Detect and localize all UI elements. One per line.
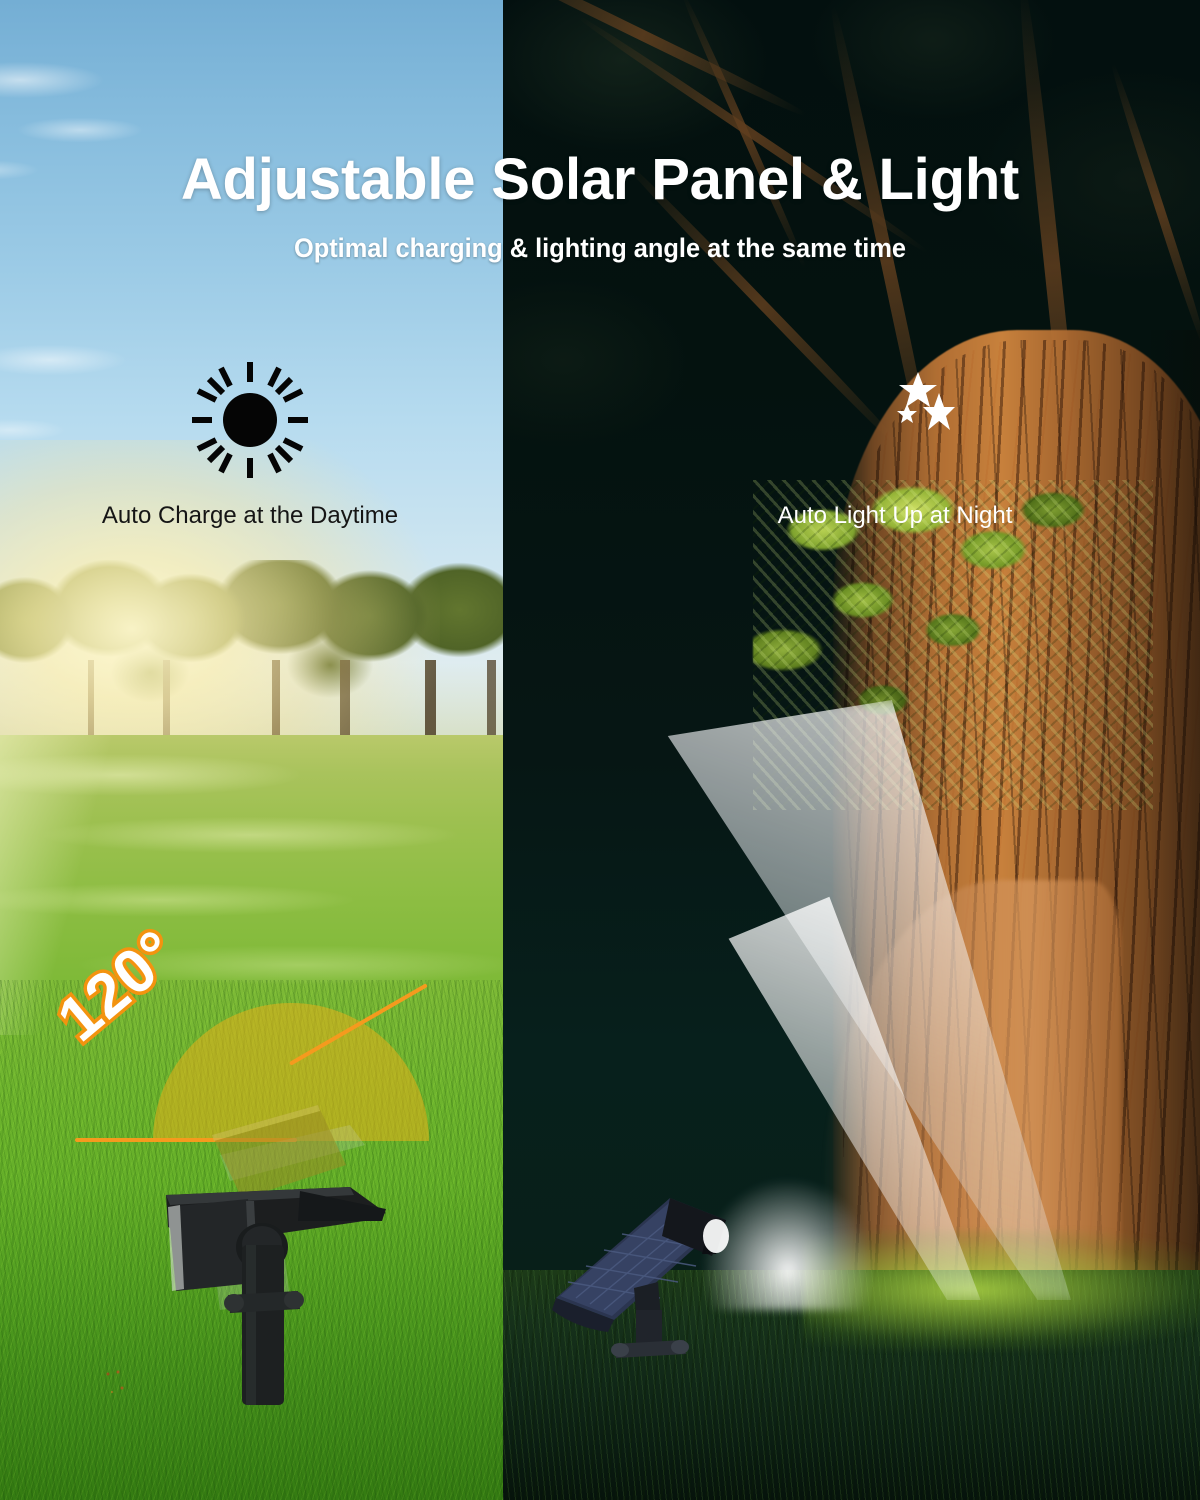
night-feature-block: Auto Light Up at Night [700, 360, 1090, 531]
day-feature-caption: Auto Charge at the Daytime [55, 502, 445, 531]
product-feature-banner: Adjustable Solar Panel & Light Optimal c… [0, 0, 1200, 1500]
sun-icon [190, 360, 310, 480]
solar-spotlight-panel [550, 1170, 780, 1360]
moon-stars-icon [835, 360, 955, 480]
page-subtitle: Optimal charging & lighting angle at the… [36, 233, 1164, 264]
day-feature-block: Auto Charge at the Daytime [55, 360, 445, 531]
night-feature-caption: Auto Light Up at Night [700, 502, 1090, 531]
solar-spotlight-stake [150, 1095, 410, 1405]
page-title: Adjustable Solar Panel & Light [0, 150, 1200, 211]
